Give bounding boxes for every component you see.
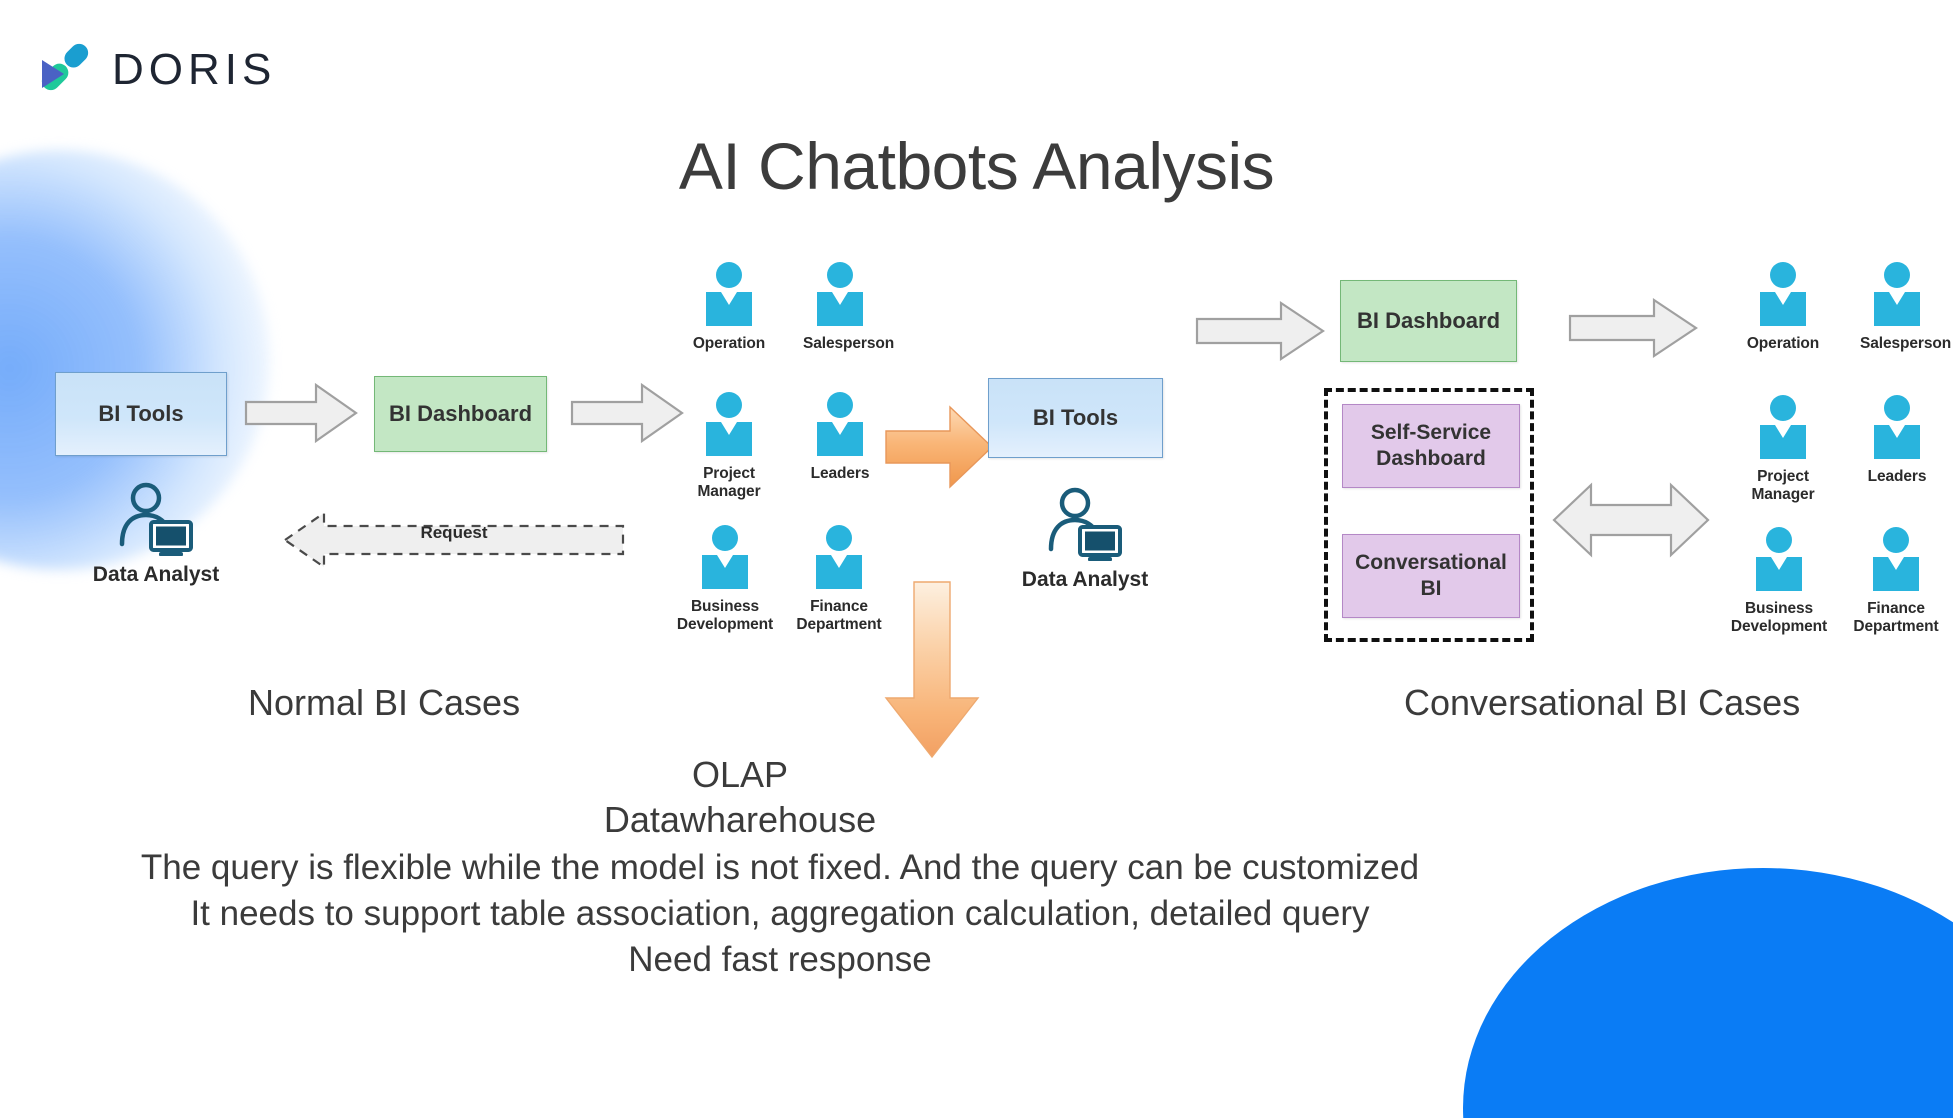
doris-logo: DORIS <box>34 36 276 103</box>
olap-line-1: OLAP <box>530 752 950 797</box>
person-icon <box>1846 527 1946 596</box>
right-data-analyst-label: Data Analyst <box>1005 568 1165 592</box>
right-bi-dashboard-box[interactable]: BI Dashboard <box>1340 280 1517 362</box>
right-person-label: Salesperson <box>1860 335 1934 353</box>
person-icon <box>1746 395 1820 464</box>
left-person-salesperson: Salesperson <box>803 262 877 353</box>
person-icon <box>789 525 889 594</box>
right-person-project-manager: Project Manager <box>1746 395 1820 504</box>
person-icon <box>803 392 877 461</box>
left-person-leaders: Leaders <box>803 392 877 483</box>
left-arrow-tools-to-dashboard <box>244 382 358 444</box>
bottom-note-2: It needs to support table association, a… <box>0 891 1560 937</box>
self-service-dashboard-box[interactable]: Self-Service Dashboard <box>1342 404 1520 488</box>
olap-label-block: OLAP Datawharehouse <box>530 752 950 842</box>
right-data-analyst: Data Analyst <box>1005 487 1165 592</box>
right-flow-caption: Conversational BI Cases <box>1404 682 1800 724</box>
person-icon <box>675 525 775 594</box>
left-person-label: Operation <box>692 335 766 353</box>
left-data-analyst: Data Analyst <box>76 482 236 587</box>
person-icon <box>1860 395 1934 464</box>
left-person-label: Salesperson <box>803 335 877 353</box>
left-data-analyst-label: Data Analyst <box>76 563 236 587</box>
right-arrow-tools-to-dashboard <box>1195 300 1325 362</box>
left-person-label: Finance Department <box>789 598 889 634</box>
right-person-label: Project Manager <box>1746 468 1820 504</box>
left-bi-dashboard-box[interactable]: BI Dashboard <box>374 376 547 452</box>
left-flow-caption: Normal BI Cases <box>248 682 520 724</box>
olap-line-2: Datawharehouse <box>530 797 950 842</box>
left-person-project-manager: Project Manager <box>692 392 766 501</box>
orange-arrow-right <box>884 404 994 490</box>
left-person-label: Business Development <box>675 598 775 634</box>
data-analyst-icon <box>1046 548 1124 565</box>
right-person-finance-department: Finance Department <box>1846 527 1946 636</box>
person-icon <box>1746 262 1820 331</box>
right-person-business-development: Business Development <box>1729 527 1829 636</box>
left-person-operation: Operation <box>692 262 766 353</box>
right-person-operation: Operation <box>1746 262 1820 353</box>
person-icon <box>1729 527 1829 596</box>
double-headed-arrow <box>1551 477 1711 563</box>
data-analyst-icon <box>117 543 195 560</box>
right-arrow-dashboard-to-people <box>1568 296 1698 360</box>
person-icon <box>1860 262 1934 331</box>
right-person-leaders: Leaders <box>1860 395 1934 486</box>
left-arrow-dashboard-to-people <box>570 382 684 444</box>
bottom-note-3: Need fast response <box>0 937 1560 983</box>
right-person-label: Business Development <box>1729 600 1829 636</box>
left-person-label: Leaders <box>803 465 877 483</box>
slide-canvas: DORIS AI Chatbots Analysis BI Tools BI D… <box>0 0 1953 1118</box>
left-person-finance-department: Finance Department <box>789 525 889 634</box>
doris-logo-mark <box>34 36 96 103</box>
person-icon <box>692 392 766 461</box>
request-arrow-label: Request <box>282 523 626 543</box>
bottom-note-1: The query is flexible while the model is… <box>0 845 1560 891</box>
right-person-label: Finance Department <box>1846 600 1946 636</box>
person-icon <box>692 262 766 331</box>
conversational-bi-box[interactable]: Conversational BI <box>1342 534 1520 618</box>
person-icon <box>803 262 877 331</box>
right-person-label: Operation <box>1746 335 1820 353</box>
left-person-label: Project Manager <box>692 465 766 501</box>
left-bi-tools-box[interactable]: BI Tools <box>55 372 227 456</box>
page-title: AI Chatbots Analysis <box>0 128 1953 204</box>
bottom-notes: The query is flexible while the model is… <box>0 845 1560 984</box>
right-person-salesperson: Salesperson <box>1860 262 1934 353</box>
right-person-label: Leaders <box>1860 468 1934 486</box>
left-person-business-development: Business Development <box>675 525 775 634</box>
right-bi-tools-box[interactable]: BI Tools <box>988 378 1163 458</box>
doris-logo-text: DORIS <box>112 45 276 95</box>
orange-arrow-down <box>883 580 981 760</box>
